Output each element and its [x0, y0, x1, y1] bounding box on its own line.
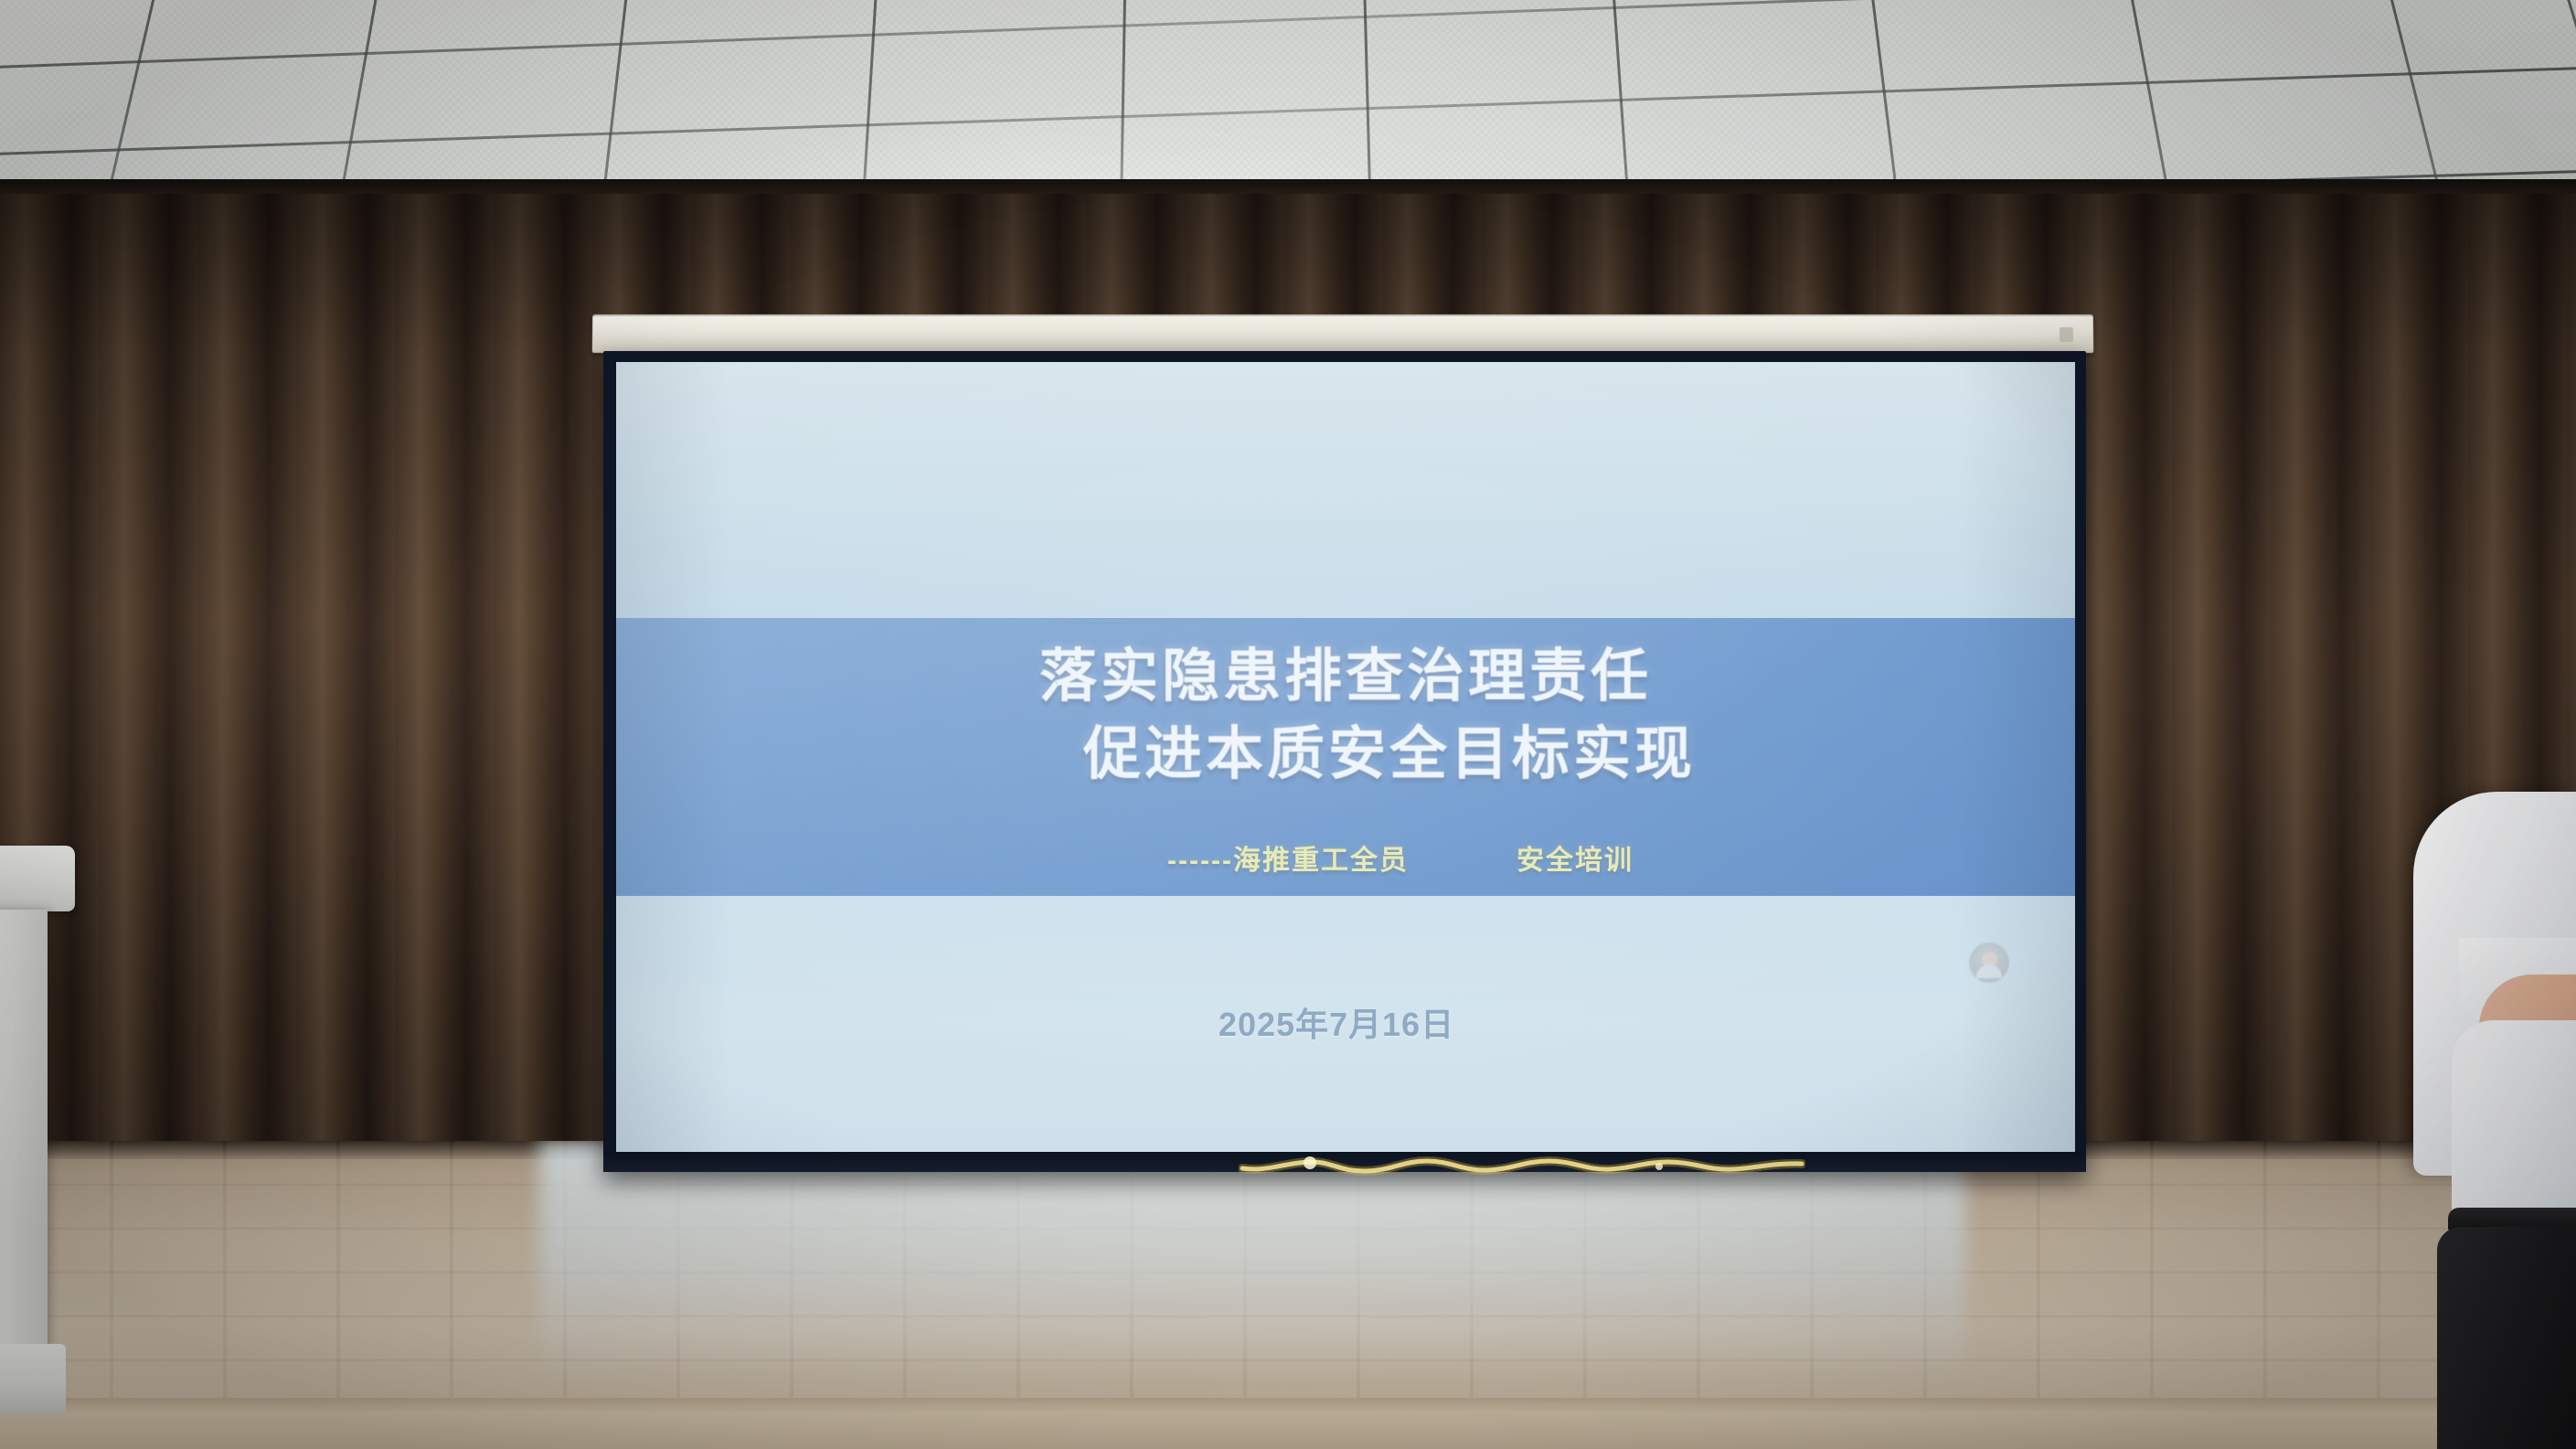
standing-person: [2413, 792, 2576, 1449]
slide-upper-panel: [616, 362, 2075, 618]
person-trousers: [2437, 1227, 2576, 1449]
floor-front-edge: [0, 1398, 2576, 1449]
slide-title-block: 落实隐患排查治理责任 促进本质安全目标实现 ------海推重工全员 安全培训: [616, 618, 2075, 896]
projection-screen-frame[interactable]: 落实隐患排查治理责任 促进本质安全目标实现 ------海推重工全员 安全培训 …: [603, 351, 2086, 1172]
conference-room-scene: 落实隐患排查治理责任 促进本质安全目标实现 ------海推重工全员 安全培训 …: [0, 0, 2576, 1449]
lectern-column: [0, 910, 48, 1358]
housing-end-cap-icon: [2060, 327, 2073, 342]
slide-title-line-2: 促进本质安全目标实现: [616, 719, 2075, 790]
lectern-base: [0, 1344, 66, 1413]
lectern-top-surface: [0, 846, 75, 911]
presenter-avatar-icon: [1969, 943, 2009, 983]
slide-date-text: 2025年7月16日: [616, 998, 2075, 1046]
floor: [0, 1141, 2576, 1449]
projector-light-spill: [539, 1141, 1965, 1369]
slide-subtitle-topic: 安全培训: [1517, 837, 1634, 878]
slide-title-line-1: 落实隐患排查治理责任: [616, 642, 2075, 712]
avatar-body-shape: [1976, 964, 2002, 978]
projection-screen-surface[interactable]: 落实隐患排查治理责任 促进本质安全目标实现 ------海推重工全员 安全培训 …: [616, 362, 2075, 1152]
person-shirt-lower: [2452, 1020, 2576, 1218]
slide-subtitle-organization: ------海推重工全员: [1167, 837, 1409, 878]
screen-bottom-weight-bar: [603, 1152, 2086, 1172]
lectern[interactable]: [0, 846, 75, 1449]
projection-screen-housing[interactable]: [592, 314, 2093, 353]
slide-subtitle-row: ------海推重工全员 安全培训: [616, 837, 2075, 878]
curtain-rail: [0, 179, 2576, 194]
